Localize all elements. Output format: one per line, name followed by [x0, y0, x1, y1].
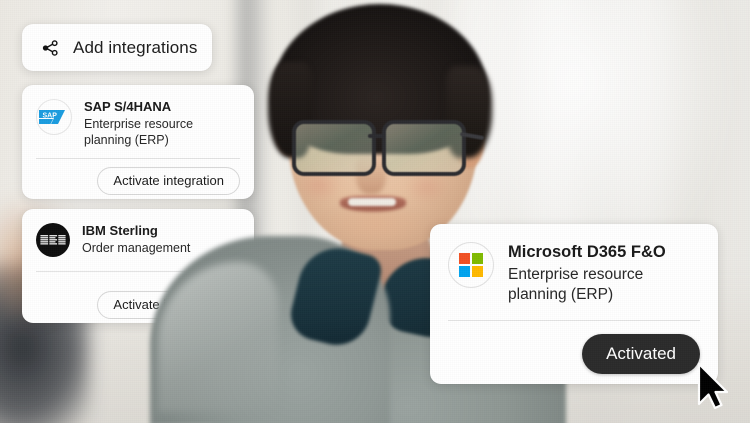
card-footer: Activate integration: [22, 291, 254, 319]
add-integrations-button[interactable]: Add integrations: [22, 24, 212, 71]
integration-subtitle: Enterprise resource planning (ERP): [508, 265, 700, 305]
card-footer: Activate integration: [22, 167, 254, 195]
card-header: SAP SAP S/4HANA Enterprise resource plan…: [22, 85, 254, 148]
divider: [36, 158, 240, 159]
integration-title: SAP S/4HANA: [84, 99, 240, 115]
divider: [36, 271, 240, 272]
eyeglasses: [286, 116, 478, 174]
integration-title: Microsoft D365 F&O: [508, 242, 700, 263]
sap-logo-icon: SAP: [36, 99, 72, 135]
integration-title: IBM Sterling: [82, 223, 190, 239]
integration-subtitle: Order management: [82, 240, 190, 256]
activated-button[interactable]: Activated: [582, 334, 700, 374]
integration-card-microsoft[interactable]: Microsoft D365 F&O Enterprise resource p…: [430, 224, 718, 384]
activate-integration-button[interactable]: Activate integration: [97, 291, 240, 319]
card-header: Microsoft D365 F&O Enterprise resource p…: [430, 224, 718, 305]
integration-card-ibm[interactable]: IBM Sterling Order management Activate i…: [22, 209, 254, 323]
divider: [448, 320, 700, 321]
integration-subtitle: Enterprise resource planning (ERP): [84, 116, 240, 148]
activate-integration-button[interactable]: Activate integration: [97, 167, 240, 195]
add-integrations-label: Add integrations: [73, 38, 197, 58]
card-footer: Activated: [430, 334, 718, 374]
integration-card-sap[interactable]: SAP SAP S/4HANA Enterprise resource plan…: [22, 85, 254, 199]
card-header: IBM Sterling Order management: [22, 209, 254, 257]
screenshot-canvas: Add integrations SAP SAP S/4HANA Enterpr…: [0, 0, 750, 423]
share-icon: [40, 38, 60, 58]
ibm-logo-icon: [36, 223, 70, 257]
svg-text:SAP: SAP: [43, 113, 58, 120]
microsoft-logo-icon: [448, 242, 494, 288]
